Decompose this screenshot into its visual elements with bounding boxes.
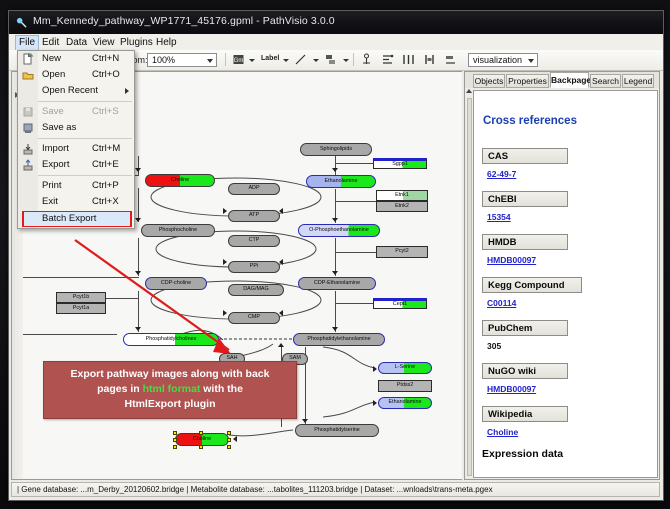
arrow-cmp-left	[223, 310, 227, 316]
menu-data[interactable]: Data	[62, 35, 91, 50]
node-adp[interactable]: ADP	[228, 183, 280, 195]
anchor-icon[interactable]	[359, 52, 374, 67]
export-icon	[22, 159, 34, 171]
arrow-to-phosphocholine	[135, 218, 141, 222]
stack-icon[interactable]	[443, 52, 458, 67]
toolbar-separator-2	[353, 53, 354, 66]
arrow-to-ethanolamine-right	[373, 400, 377, 406]
node-cmp[interactable]: CMP	[228, 312, 280, 324]
save-as-icon	[22, 122, 34, 134]
edge-choline-phosphocholine	[138, 188, 139, 222]
application-window: Mm_Kennedy_pathway_WP1771_45176.gpml - P…	[8, 10, 664, 501]
menu-item-new[interactable]: New Ctrl+N	[18, 51, 134, 67]
arrow-to-ps	[302, 419, 308, 423]
backpage-title: Cross references	[483, 115, 577, 127]
distribute-icon[interactable]	[422, 52, 437, 67]
node-etnk2[interactable]: Etnk2	[376, 201, 428, 212]
screen: Mm_Kennedy_pathway_WP1771_45176.gpml - P…	[0, 0, 670, 509]
menu-item-import-accel: Ctrl+M	[92, 143, 120, 154]
menu-item-open-label: Open	[42, 69, 65, 80]
node-pcyt1a[interactable]: Pcyt1a	[56, 303, 106, 314]
kegg-link[interactable]: C00114	[487, 298, 516, 308]
visualization-value: visualization	[473, 55, 522, 65]
section-chebi: ChEBI	[482, 191, 568, 207]
import-icon	[22, 143, 34, 155]
tab-search[interactable]: Search	[590, 74, 621, 88]
open-folder-icon	[22, 69, 34, 81]
node-pcyt1b[interactable]: Pcyt1b	[56, 292, 106, 303]
submenu-arrow-icon	[125, 88, 129, 94]
edge-cept1	[335, 303, 373, 304]
node-o-phosphoethanolamine[interactable]: O-Phosphoethanolamine	[298, 224, 380, 237]
node-cdp-ethanolamine[interactable]: CDP-Ethanolamine	[298, 277, 376, 290]
menu-item-export-accel: Ctrl+E	[92, 159, 119, 170]
line-dropdown-arrow-icon[interactable]	[313, 59, 319, 62]
line-icon[interactable]	[293, 52, 308, 67]
label-dropdown-arrow-icon[interactable]	[283, 59, 289, 62]
node-cdp-choline[interactable]: CDP-choline	[145, 277, 207, 290]
visualization-select[interactable]: visualization	[468, 53, 538, 67]
section-wikipedia: Wikipedia	[482, 406, 568, 422]
arrow-to-cdpcholine	[135, 271, 141, 275]
arrow-to-cdpethanolamine	[332, 271, 338, 275]
callout-line-2: pages in html format with the	[44, 382, 296, 397]
sidebar-tab-strip: Objects Properties Backpage Search Legen…	[465, 72, 659, 88]
node-ethanolamine-top[interactable]: Ethanolamine	[306, 175, 376, 188]
callout-line-2b: with the	[200, 383, 243, 395]
visualization-chevron-down-icon	[528, 59, 534, 63]
menu-bar: File Edit Data View Plugins Help	[9, 34, 663, 51]
window-title: Mm_Kennedy_pathway_WP1771_45176.gpml - P…	[33, 15, 335, 27]
edge-etnk	[335, 201, 376, 202]
menu-item-open[interactable]: Open Ctrl+O	[18, 67, 134, 83]
edge-choline-in	[138, 156, 139, 175]
arrow-choline-selected-in	[233, 436, 237, 442]
menu-plugins[interactable]: Plugins	[116, 35, 157, 50]
arrow-to-pe-up	[278, 343, 284, 347]
menu-item-exit-accel: Ctrl+X	[92, 196, 119, 207]
node-etnk1[interactable]: Etnk1	[376, 190, 428, 201]
menu-item-exit-label: Exit	[42, 196, 58, 207]
tab-legend[interactable]: Legend	[622, 74, 654, 88]
tab-properties[interactable]: Properties	[506, 74, 549, 88]
menu-item-print-label: Print	[42, 180, 62, 191]
arrow-to-lserine	[373, 366, 377, 372]
menu-item-exit[interactable]: Exit Ctrl+X	[18, 194, 134, 210]
section-hmdb: HMDB	[482, 234, 568, 250]
save-disk-icon	[22, 106, 34, 118]
edge-left-in-4	[23, 334, 117, 335]
shape-icon[interactable]	[323, 52, 338, 67]
arrow-atp-left	[223, 208, 227, 214]
chevron-down-icon	[207, 59, 213, 63]
node-choline[interactable]: Choline	[145, 174, 215, 187]
node-phosphatidylcholines[interactable]: Phosphatidylcholines	[123, 333, 219, 346]
menu-item-print-accel: Ctrl+P	[92, 180, 119, 191]
menu-item-new-label: New	[42, 53, 61, 64]
sidebar-panel: Objects Properties Backpage Search Legen…	[464, 71, 660, 480]
menu-item-open-accel: Ctrl+O	[92, 69, 120, 80]
edge-pcyt1	[106, 298, 138, 299]
annotation-callout: Export pathway images along with back pa…	[43, 361, 297, 419]
node-ethanolamine-right[interactable]: Ethanolamine	[378, 397, 432, 409]
callout-line-1: Export pathway images along with back	[44, 367, 296, 382]
arrow-to-ophospho	[332, 218, 338, 222]
status-text: | Gene database: ...m_Derby_20120602.bri…	[17, 485, 493, 494]
status-bar: | Gene database: ...m_Derby_20120602.bri…	[11, 482, 660, 497]
node-phosphatidylserine[interactable]: Phosphatidylserine	[295, 424, 379, 437]
menu-item-export[interactable]: Export Ctrl+E	[18, 157, 134, 173]
menu-item-print[interactable]: Print Ctrl+P	[18, 178, 134, 194]
scroll-up-arrow-icon[interactable]	[466, 89, 472, 93]
section-cas: CAS	[482, 148, 568, 164]
align-center-icon[interactable]	[401, 52, 416, 67]
arrow-to-ethanolamine	[332, 168, 338, 172]
node-cept1[interactable]: Cept1	[373, 298, 427, 309]
backpage-content: Cross references CAS 62-49-7 ChEBI 15354…	[473, 90, 658, 478]
svg-text:Gm: Gm	[234, 58, 244, 64]
shape-dropdown-arrow-icon[interactable]	[343, 59, 349, 62]
menu-item-open-recent[interactable]: Open Recent	[18, 83, 134, 99]
menu-item-save: Save Ctrl+S	[18, 104, 134, 120]
hmdb-link[interactable]: HMDB00097	[487, 255, 536, 265]
chebi-link[interactable]: 15354	[487, 212, 511, 222]
section-nugo-wiki: NuGO wiki	[482, 363, 568, 379]
file-menu-dropdown[interactable]: New Ctrl+N Open Ctrl+O Open Recent Save …	[17, 50, 135, 229]
node-sgpp1[interactable]: Sgpp1	[373, 158, 427, 169]
arrow-to-ptdcholine	[135, 327, 141, 331]
menu-item-save-as[interactable]: Save as	[18, 120, 134, 136]
menu-item-export-label: Export	[42, 159, 69, 170]
sidebar-splitter-handle[interactable]	[467, 98, 472, 476]
callout-line-2a: pages in	[97, 383, 143, 395]
nugo-link[interactable]: HMDB00097	[487, 384, 536, 394]
menu-item-new-accel: Ctrl+N	[92, 53, 119, 64]
new-document-icon	[22, 53, 34, 65]
menu-view[interactable]: View	[89, 35, 119, 50]
section-kegg-compound: Kegg Compound	[482, 277, 582, 293]
wikipedia-link[interactable]: Choline	[487, 427, 518, 437]
node-atp[interactable]: ATP	[228, 210, 280, 222]
pathvisio-icon	[16, 17, 27, 28]
expression-data-title: Expression data	[482, 448, 563, 460]
menu-item-save-label: Save	[42, 106, 64, 117]
edge-sgpp1	[335, 163, 373, 164]
menu-item-open-recent-label: Open Recent	[42, 85, 98, 96]
edge-cdpethanolamine-pe	[335, 291, 336, 332]
section-pubchem: PubChem	[482, 320, 568, 336]
label-button[interactable]: Label	[261, 55, 279, 62]
edge-sphingo-ethanolamine	[335, 156, 336, 175]
edge-pcyt2	[335, 252, 376, 253]
node-pcyt2[interactable]: Pcyt2	[376, 246, 428, 258]
title-bar: Mm_Kennedy_pathway_WP1771_45176.gpml - P…	[9, 11, 663, 35]
node-ctp[interactable]: CTP	[228, 235, 280, 247]
callout-line-3: HtmlExport plugin	[44, 397, 296, 412]
node-ptdss2[interactable]: Ptdss2	[378, 380, 432, 392]
menu-item-batch-export-label: Batch Export	[42, 213, 96, 224]
menu-item-import-label: Import	[42, 143, 69, 154]
menu-item-save-accel: Ctrl+S	[92, 106, 119, 117]
node-ppi[interactable]: PPi	[228, 261, 280, 273]
zoom-select[interactable]: 100%	[147, 53, 217, 67]
zoom-value: 100%	[152, 55, 175, 65]
pubchem-value: 305	[487, 341, 501, 351]
menu-item-batch-export[interactable]: Batch Export	[24, 212, 130, 226]
cas-link[interactable]: 62-49-7	[487, 169, 516, 179]
node-dag-mag[interactable]: DAG/MAG	[228, 284, 284, 296]
gpml-icon[interactable]: Gm	[231, 52, 246, 67]
toolbar-separator	[225, 53, 226, 66]
callout-line-2-highlight: html format	[143, 383, 201, 395]
menu-item-import[interactable]: Import Ctrl+M	[18, 141, 134, 157]
menu-help[interactable]: Help	[152, 35, 181, 50]
node-phosphatidylethanolamine[interactable]: Phosphatidylethanolamine	[293, 333, 385, 346]
node-sphingolipids[interactable]: Sphingolipids	[300, 143, 372, 156]
menu-file[interactable]: File	[15, 35, 39, 51]
arrow-ppi-left	[223, 259, 227, 265]
gpml-dropdown-arrow-icon[interactable]	[249, 59, 255, 62]
arrow-to-pe	[332, 327, 338, 331]
align-left-icon[interactable]	[380, 52, 395, 67]
menu-item-save-as-label: Save as	[42, 122, 76, 133]
arrow-choline-in	[135, 168, 141, 172]
menu-edit[interactable]: Edit	[38, 35, 63, 50]
edge-left-in-3	[23, 277, 139, 278]
node-l-serine[interactable]: L-Serine	[378, 362, 432, 374]
tab-objects[interactable]: Objects	[473, 74, 505, 88]
edge-cdpcholine-ptdcholine	[138, 291, 139, 332]
node-phosphocholine[interactable]: Phosphocholine	[141, 224, 215, 237]
tab-backpage[interactable]: Backpage	[550, 72, 589, 88]
